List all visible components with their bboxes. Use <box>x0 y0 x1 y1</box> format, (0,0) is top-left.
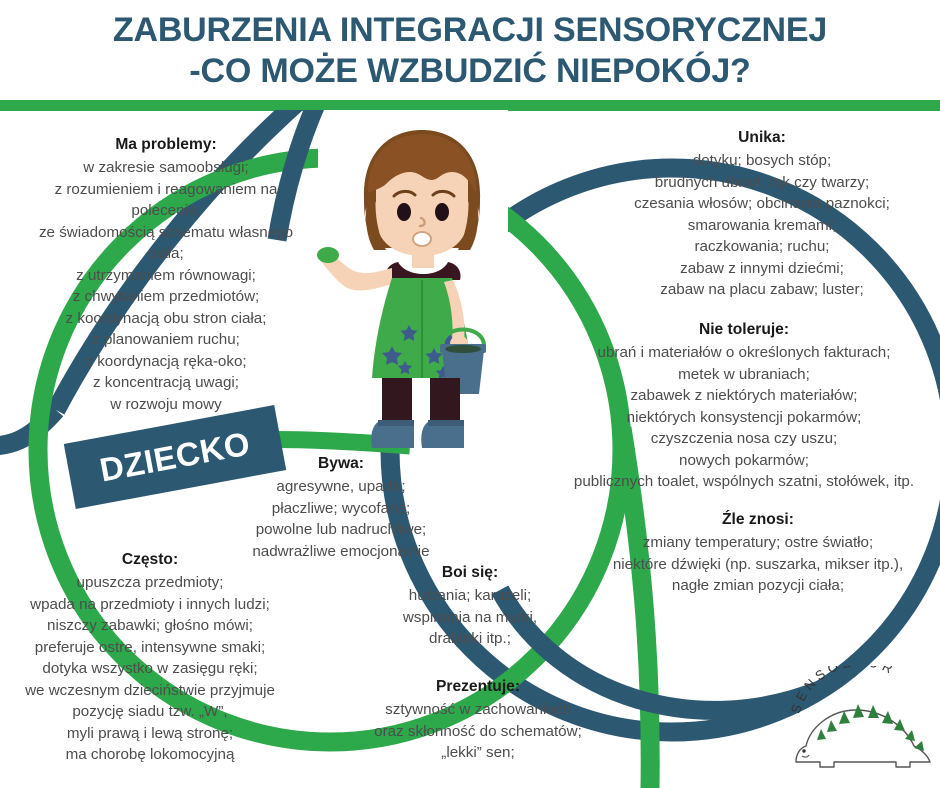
block-heading: Bywa: <box>236 452 446 475</box>
block-heading: Boi się: <box>372 561 568 584</box>
block-line: ze świadomością schematu własnego <box>30 222 302 244</box>
block-line: z planowaniem ruchu; <box>30 329 302 351</box>
block-heading: Prezentuje: <box>372 675 584 698</box>
block-line: ma chorobę lokomocyjną <box>4 744 296 766</box>
bucket-contents <box>445 345 481 353</box>
block-line: z koncentracją uwagi; <box>30 372 302 394</box>
block-line: huśtania; karuzeli; <box>372 585 568 607</box>
boot-cuff-left <box>378 420 414 426</box>
block-line: w zakresie samoobsługi; <box>30 157 302 179</box>
block-line: zabaw na placu zabaw; luster; <box>594 279 930 301</box>
boot-cuff-right <box>428 420 464 426</box>
stegosaurus-eye <box>802 749 805 752</box>
blue-arc-left-lower <box>0 410 56 446</box>
block-line: ciała; <box>30 243 302 265</box>
block-line: powolne lub nadruchliwe; <box>236 519 446 541</box>
sensozaur-logo: SENSOZAUR <box>786 666 934 774</box>
block-line: czyszczenia nosa czy uszu; <box>552 428 936 450</box>
block-line: myli prawą i lewą stronę; <box>4 723 296 745</box>
block-line: niektóre dźwięki (np. suszarka, mikser i… <box>580 554 936 576</box>
block-line: dotyka wszystko w zasięgu ręki; <box>4 658 296 680</box>
block-zle-znosi: Źle znosi: zmiany temperatury; ostre świ… <box>580 508 936 597</box>
logo-wordmark: SENSOZAUR <box>788 666 899 715</box>
block-line: polecenia; <box>30 200 302 222</box>
block-heading: Często: <box>4 548 296 571</box>
neck <box>412 252 434 268</box>
block-line: nagłe zmian pozycji ciała; <box>580 575 936 597</box>
block-line: ubrań i materiałów o określonych faktura… <box>552 342 936 364</box>
block-line: zabawek z niektórych materiałów; <box>552 385 936 407</box>
block-line: w rozwoju mowy <box>30 394 302 416</box>
block-line: dotyku; bosych stóp; <box>594 150 930 172</box>
block-line: wspinania na murki, <box>372 607 568 629</box>
block-czesto: Często: upuszcza przedmioty; wpada na pr… <box>4 548 296 766</box>
block-line: zmiany temperatury; ostre światło; <box>580 532 936 554</box>
block-line: płaczliwe; wycofane; <box>236 498 446 520</box>
block-line: zabaw z innymi dziećmi; <box>594 258 930 280</box>
block-line: brudnych ubrań, rąk czy twarzy; <box>594 172 930 194</box>
block-line: z koordynacją obu stron ciała; <box>30 308 302 330</box>
block-line: agresywne, uparte; <box>236 476 446 498</box>
block-bywa: Bywa: agresywne, uparte; płaczliwe; wyco… <box>236 452 446 562</box>
block-line: czesania włosów; obcinania paznokci; <box>594 193 930 215</box>
eye-left <box>397 203 411 221</box>
page-title: ZABURZENIA INTEGRACJI SENSORYCZNEJ -CO M… <box>0 10 940 92</box>
header: ZABURZENIA INTEGRACJI SENSORYCZNEJ -CO M… <box>0 0 940 110</box>
block-unika: Unika: dotyku; bosych stóp; brudnych ubr… <box>594 126 930 301</box>
page-title-line-2: -CO MOŻE WZBUDZIĆ NIEPOKÓJ? <box>0 51 940 92</box>
header-divider <box>0 100 940 111</box>
block-boi-sie: Boi się: huśtania; karuzeli; wspinania n… <box>372 561 568 650</box>
block-line: z utrzymaniem równowagi; <box>30 265 302 287</box>
leg-right <box>430 378 460 426</box>
block-line: „lekki” sen; <box>372 742 584 764</box>
block-line: publicznych toalet, wspólnych szatni, st… <box>552 471 936 493</box>
block-line: upuszcza przedmioty; <box>4 572 296 594</box>
leg-left <box>382 378 412 426</box>
block-line: metek w ubraniach; <box>552 364 936 386</box>
block-ma-problemy: Ma problemy: w zakresie samoobsługi; z r… <box>30 133 302 415</box>
mouth <box>413 232 431 246</box>
block-line: drabinki itp.; <box>372 628 568 650</box>
block-line: niektórych konsystencji pokarmów; <box>552 407 936 429</box>
block-heading: Ma problemy: <box>30 133 302 156</box>
page-title-line-1: ZABURZENIA INTEGRACJI SENSORYCZNEJ <box>113 11 827 49</box>
block-prezentuje: Prezentuje: sztywność w zachowaniach ora… <box>372 675 584 764</box>
block-line: nowych pokarmów; <box>552 450 936 472</box>
girl-with-bucket-illustration <box>312 122 532 454</box>
block-line: wpada na przedmioty i innych ludzi; <box>4 594 296 616</box>
block-heading: Nie toleruje: <box>552 318 936 341</box>
block-heading: Źle znosi: <box>580 508 936 531</box>
eye-right <box>435 203 449 221</box>
block-line: raczkowania; ruchu; <box>594 236 930 258</box>
block-line: z koordynacją ręka-oko; <box>30 351 302 373</box>
block-line: z rozumieniem i reagowaniem na <box>30 179 302 201</box>
block-line: niszczy zabawki; głośno mówi; <box>4 615 296 637</box>
block-line: pozycję siadu tzw. „W”, <box>4 701 296 723</box>
block-line: sztywność w zachowaniach <box>372 699 584 721</box>
block-line: z chwytaniem przedmiotów; <box>30 286 302 308</box>
block-heading: Unika: <box>594 126 930 149</box>
block-line: oraz skłonność do schematów; <box>372 721 584 743</box>
block-line: preferuje ostre, intensywne smaki; <box>4 637 296 659</box>
block-line: we wczesnym dzieciństwie przyjmuje <box>4 680 296 702</box>
block-nie-toleruje: Nie toleruje: ubrań i materiałów o okreś… <box>552 318 936 493</box>
block-line: smarowania kremami; <box>594 215 930 237</box>
green-object-in-hand <box>317 247 339 263</box>
infographic-canvas: ZABURZENIA INTEGRACJI SENSORYCZNEJ -CO M… <box>0 0 940 788</box>
